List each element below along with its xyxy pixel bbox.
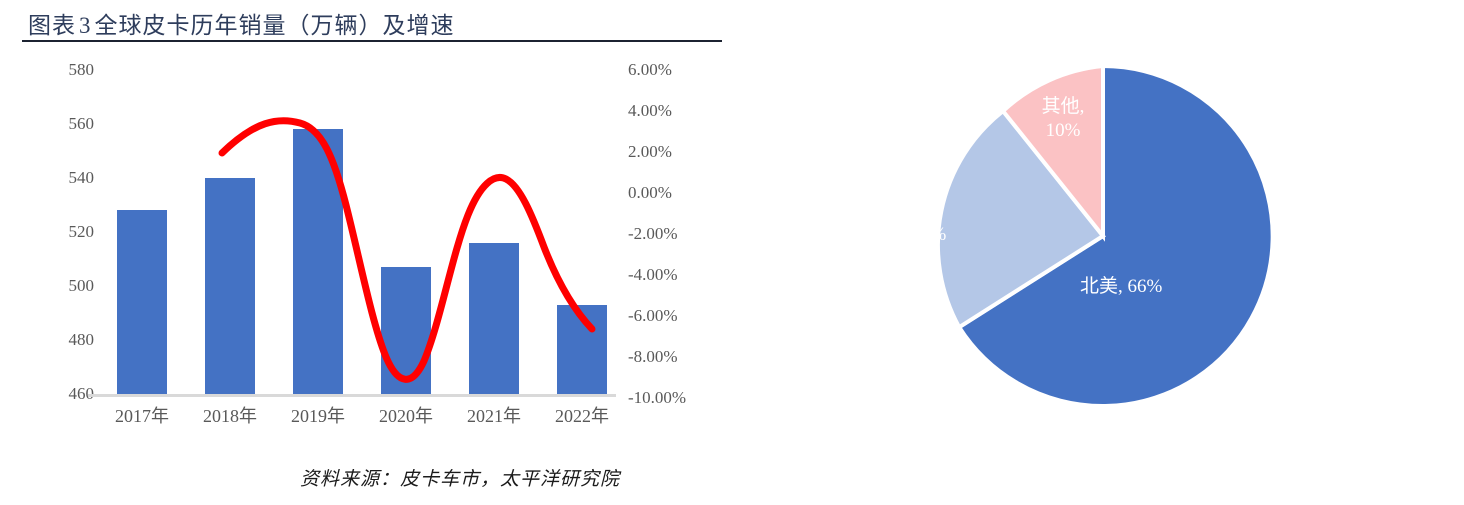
- x-axis-label-2017: 2017年: [92, 402, 192, 428]
- pie-chart: [928, 61, 1278, 411]
- growth-rate-line: [0, 55, 740, 455]
- x-axis-label-2020: 2020年: [356, 402, 456, 428]
- pie-label-other: 其他, 10%: [1035, 95, 1091, 143]
- pie-label-other-line2: 10%: [1035, 119, 1091, 143]
- x-axis-label-2019: 2019年: [268, 402, 368, 428]
- figure-3-panel: 图表3全球皮卡历年销量（万辆）及增速 580 560 540 520 500 4…: [0, 0, 740, 505]
- figure-3-chart: 580 560 540 520 500 480 460 6.00% 4.00% …: [0, 55, 740, 455]
- pie-label-north-america: 北美, 66%: [1080, 275, 1162, 299]
- figure-4-panel: 图表4全球皮卡销量分布 北美, 66% 东南亚, 24% 其他, 10% 资料来…: [740, 0, 1464, 505]
- figure-3-title-prefix: 图表: [28, 13, 76, 38]
- x-axis-label-2021: 2021年: [444, 402, 544, 428]
- figure-3-title-text: 全球皮卡历年销量（万辆）及增速: [95, 13, 455, 38]
- figure-3-title-number: 3: [76, 13, 95, 38]
- figure-4-chart: 北美, 66% 东南亚, 24% 其他, 10%: [740, 55, 1464, 455]
- pie-label-southeast-asia: 东南亚, 24%: [845, 223, 946, 247]
- pie-label-other-line1: 其他,: [1035, 95, 1091, 119]
- figure-3-title: 图表3全球皮卡历年销量（万辆）及增速: [28, 6, 455, 40]
- figure-3-source: 资料来源：皮卡车市，太平洋研究院: [300, 464, 620, 491]
- figure-3-title-rule: [22, 40, 722, 42]
- figures-page: 图表3全球皮卡历年销量（万辆）及增速 580 560 540 520 500 4…: [0, 0, 1464, 505]
- x-axis-label-2022: 2022年: [532, 402, 632, 428]
- x-axis-label-2018: 2018年: [180, 402, 280, 428]
